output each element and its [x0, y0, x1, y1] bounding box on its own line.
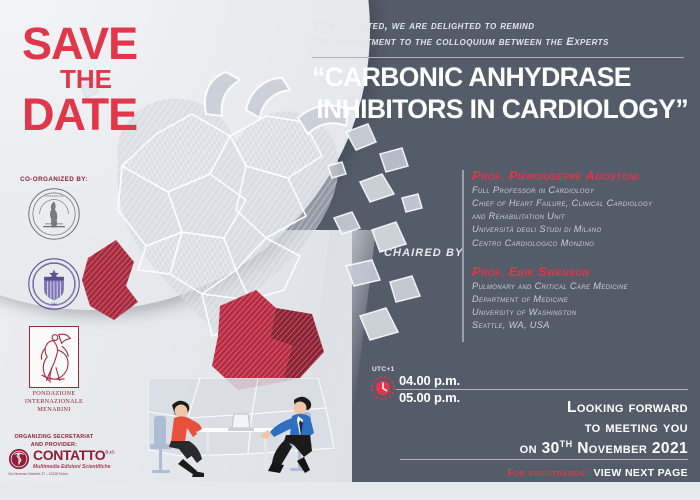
logo-university-of-washington: 1861 [0, 257, 108, 311]
speaker-item: Prof. Piergiuseppe Agostoni Full Profess… [472, 168, 696, 250]
registration-label: For registration: [507, 467, 589, 479]
logo-fondazione-internazionale-menarini: FONDAZIONE INTERNAZIONALE MENARINI [0, 326, 108, 415]
speaker-item: Prof. Erik Swenson Pulmonary and Critica… [472, 264, 696, 333]
menarini-caption-line3: MENARINI [0, 406, 108, 414]
event-date-prefix: on 30 [520, 440, 560, 457]
title-line2: INHIBITORS IN CARDIOLOGY” [312, 94, 688, 126]
closing-message: Looking forward to meeting you on 30TH N… [400, 398, 688, 460]
secretariat-line1: ORGANIZING SECRETARIAT [0, 434, 108, 442]
kicker-line2: the appointment to the colloquium betwee… [312, 34, 684, 50]
contatto-address: Via Vincenzo Gioberti, 27 – 10128 Torino [8, 472, 104, 477]
footer-strip [0, 482, 700, 500]
svg-text:UNIVERSITAS: UNIVERSITAS [44, 194, 64, 198]
caduceus-icon [8, 448, 30, 470]
speaker-affiliation: Seattle, WA, USA [472, 319, 696, 332]
closing-line3: on 30TH November 2021 [400, 439, 688, 460]
timezone-label: UTC+1 [372, 366, 395, 373]
speaker-affiliation: Full Professor in Cardiology [472, 184, 696, 197]
meeting-scene-illustration [148, 378, 358, 482]
contatto-logo: CONTATTOS.r.l. Multimedia Edizioni Scien… [8, 448, 104, 477]
closing-line1: Looking forward [400, 398, 688, 418]
speaker-affiliation: University of Washington [472, 306, 696, 319]
save-the-date-poster: SAVE THE DATE CO-ORGANIZED BY: UNIVERSIT… [0, 0, 700, 500]
speaker-affiliation: Chief of Heart Failure, Clinical Cardiol… [472, 197, 696, 210]
clock-icon [370, 375, 396, 401]
registration-action[interactable]: VIEW NEXT PAGE [593, 467, 688, 479]
title-line1: “CARBONIC ANHYDRASE [312, 62, 688, 94]
menarini-emblem [29, 326, 79, 388]
event-date-suffix: November 2021 [572, 440, 688, 457]
logo-universita-milano: UNIVERSITAS [0, 187, 108, 241]
speaker-name: Prof. Piergiuseppe Agostoni [472, 168, 696, 184]
contatto-tagline: Multimedia Edizioni Scientifiche [33, 465, 115, 470]
menarini-caption-line1: FONDAZIONE [0, 390, 108, 398]
date-word: DATE [22, 93, 202, 137]
speaker-name: Prof. Erik Swenson [472, 264, 696, 280]
save-the-date-heading: SAVE THE DATE [22, 22, 202, 137]
invitation-kicker: To all invited, we are delighted to remi… [312, 18, 684, 50]
event-title: “CARBONIC ANHYDRASE INHIBITORS IN CARDIO… [312, 62, 688, 126]
speaker-affiliation: Centro Cardiologico Monzino [472, 237, 696, 250]
contatto-name: CONTATTO [33, 447, 105, 463]
menarini-caption: FONDAZIONE INTERNAZIONALE MENARINI [0, 390, 108, 415]
chaired-by-label: CHAIRED BY [384, 247, 463, 259]
speakers-list: Prof. Piergiuseppe Agostoni Full Profess… [472, 168, 696, 346]
coorganized-by-label: CO-ORGANIZED BY: [0, 176, 108, 183]
speaker-affiliation: Department of Medicine [472, 293, 696, 306]
time-divider [396, 389, 688, 390]
registration-note[interactable]: For registration: VIEW NEXT PAGE [400, 463, 688, 481]
start-time: 04.00 p.m. [399, 373, 460, 390]
save-word: SAVE [22, 22, 202, 66]
contatto-suffix: S.r.l. [105, 450, 115, 455]
menarini-caption-line2: INTERNAZIONALE [0, 398, 108, 406]
event-date-ordinal: TH [560, 439, 573, 449]
header-divider [312, 57, 684, 58]
speaker-affiliation: Università degli Studi di Milano [472, 223, 696, 236]
speaker-affiliation: and Rehabilitation Unit [472, 210, 696, 223]
kicker-line1: To all invited, we are delighted to remi… [312, 18, 684, 34]
closing-line2: to meeting you [400, 418, 688, 438]
speakers-divider [462, 170, 464, 342]
svg-text:1861: 1861 [51, 301, 58, 305]
speaker-affiliation: Pulmonary and Critical Care Medicine [472, 280, 696, 293]
registration-divider [400, 459, 688, 460]
